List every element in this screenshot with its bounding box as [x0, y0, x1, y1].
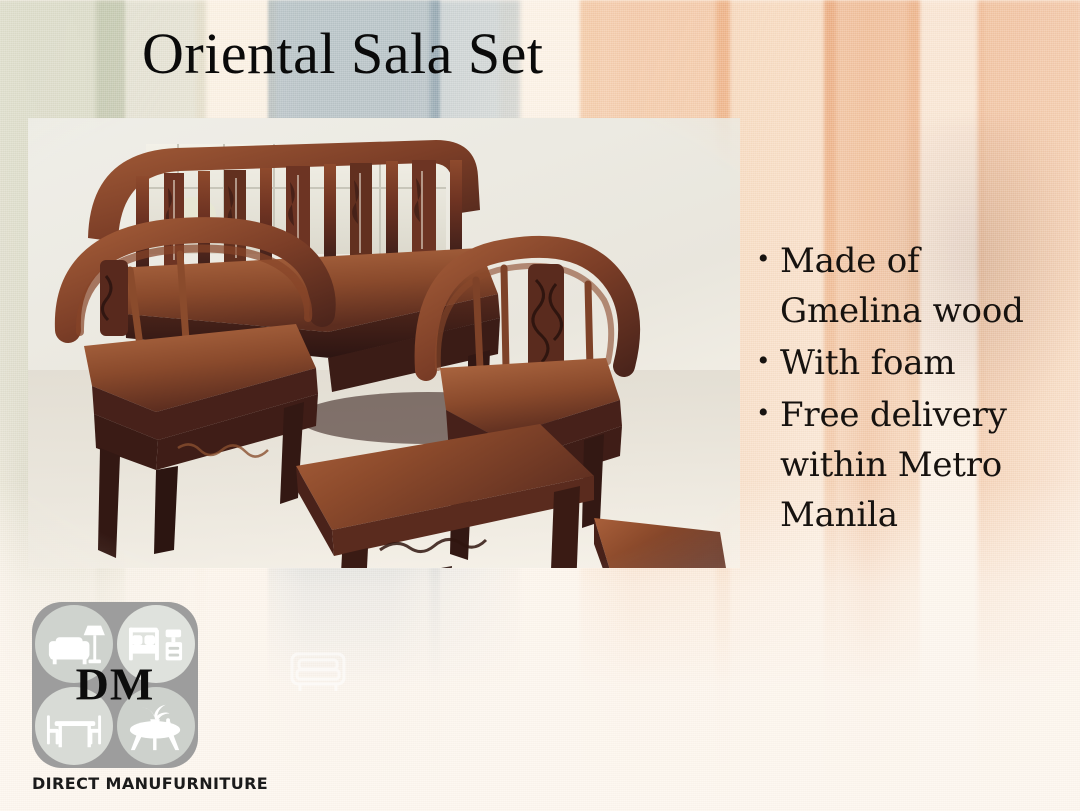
list-item: • Free delivery within Metro Manila [758, 390, 1070, 540]
sofa-watermark [286, 644, 350, 696]
feature-text: Free delivery within Metro Manila [780, 390, 1070, 540]
bullet-icon: • [758, 390, 780, 436]
brand-logo[interactable]: DM DIRECT MANUFURNITURE [32, 602, 204, 793]
logo-monogram: DM [32, 657, 198, 710]
logo-tile: DM [32, 602, 198, 768]
list-item: • Made of Gmelina wood [758, 236, 1070, 336]
list-item: • With foam [758, 338, 1070, 388]
page-title: Oriental Sala Set [142, 24, 544, 85]
bullet-icon: • [758, 338, 780, 384]
sofa-icon [286, 644, 350, 696]
bullet-icon: • [758, 236, 780, 282]
sala-set-illustration [28, 118, 740, 568]
logo-caption: DIRECT MANUFURNITURE [32, 774, 204, 793]
feature-text: Made of Gmelina wood [780, 236, 1070, 336]
feature-text: With foam [780, 338, 1070, 388]
product-photo [28, 118, 740, 568]
feature-list: • Made of Gmelina wood • With foam • Fre… [758, 236, 1070, 542]
poster-canvas: Oriental Sala Set [0, 0, 1080, 811]
